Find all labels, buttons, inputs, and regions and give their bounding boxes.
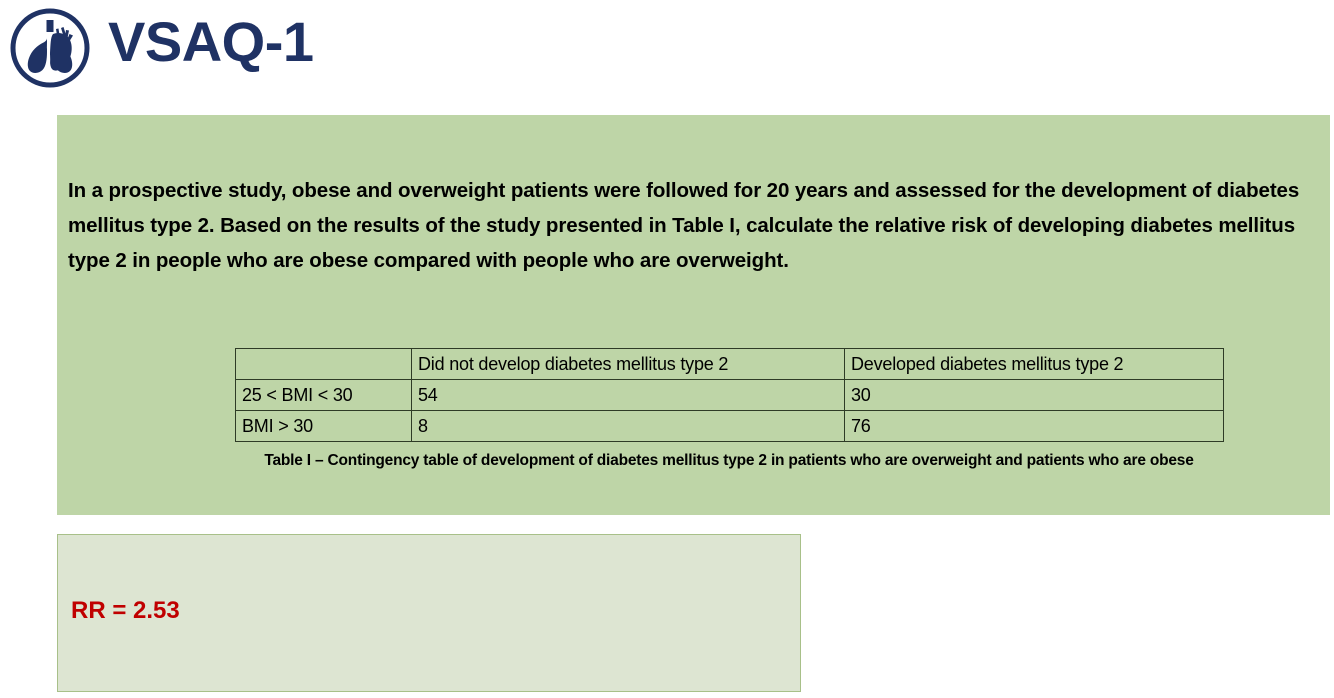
table-caption: Table I – Contingency table of developme… <box>235 447 1223 475</box>
table-cell-obese-did-not-develop: 8 <box>412 411 845 442</box>
table-header-did-not-develop: Did not develop diabetes mellitus type 2 <box>412 349 845 380</box>
contingency-table: Did not develop diabetes mellitus type 2… <box>235 348 1224 442</box>
table-cell-overweight-did-not-develop: 54 <box>412 380 845 411</box>
answer-box: RR = 2.53 <box>57 534 801 692</box>
page-title: VSAQ-1 <box>108 6 314 78</box>
lungs-heart-circle-icon <box>6 4 94 92</box>
table-header-developed: Developed diabetes mellitus type 2 <box>845 349 1224 380</box>
table-row-label-overweight: 25 < BMI < 30 <box>236 380 412 411</box>
answer-value-text: RR = 2.53 <box>71 596 180 626</box>
page-header: VSAQ-1 <box>0 0 1334 100</box>
table-row: 25 < BMI < 30 54 30 <box>236 380 1224 411</box>
table-row: BMI > 30 8 76 <box>236 411 1224 442</box>
question-panel: In a prospective study, obese and overwe… <box>57 115 1330 515</box>
table-corner-cell <box>236 349 412 380</box>
table-cell-obese-developed: 76 <box>845 411 1224 442</box>
table-header-row: Did not develop diabetes mellitus type 2… <box>236 349 1224 380</box>
question-stem-text: In a prospective study, obese and overwe… <box>68 173 1319 278</box>
table-cell-overweight-developed: 30 <box>845 380 1224 411</box>
table-row-label-obese: BMI > 30 <box>236 411 412 442</box>
